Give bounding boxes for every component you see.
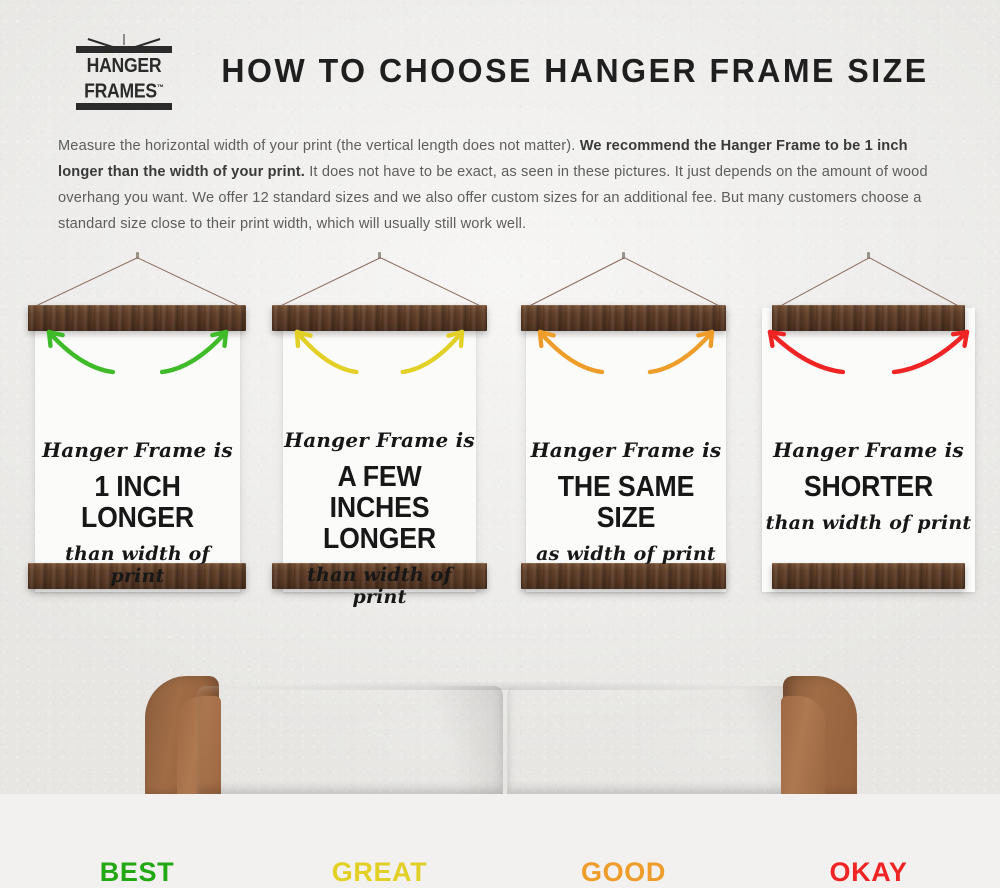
logo-wordmark: HANGER FRAMES™ — [78, 56, 170, 103]
logo-nail-icon — [124, 34, 125, 45]
page-title: HOW TO CHOOSE HANGER FRAME SIZE — [202, 52, 949, 90]
headline-line-2: LONGER — [291, 524, 469, 555]
intro-part-1: Measure the horizontal width of your pri… — [58, 138, 580, 154]
poster-okay-script-top: Hanger Frame is — [762, 438, 975, 462]
cord-left — [780, 257, 869, 306]
logo-line-1: HANGER — [78, 56, 170, 77]
poster-comparison-row: Hanger Frame is1 INCH LONGERthan width o… — [0, 252, 1000, 652]
poster-best-text: Hanger Frame is1 INCH LONGERthan width o… — [35, 438, 240, 587]
poster-okay-text: Hanger Frame isSHORTERthan width of prin… — [762, 438, 975, 534]
poster-great-script-bottom: than width of print — [283, 564, 476, 608]
poster-best-script-top: Hanger Frame is — [35, 438, 240, 462]
poster-okay-wood-bar-bottom — [772, 563, 965, 589]
nail-icon — [867, 252, 870, 259]
logo-top-bar-icon — [76, 46, 172, 53]
rating-label-good: GOOD — [521, 857, 726, 888]
logo-trademark: ™ — [157, 83, 164, 92]
poster-best-script-bottom: than width of print — [35, 543, 240, 587]
poster-best-headline: 1 INCH LONGER — [43, 472, 232, 534]
hanger-frames-logo: HANGER FRAMES™ — [72, 34, 176, 110]
sofa-cushion-right — [507, 686, 811, 794]
poster-okay-wood-bar-top — [772, 305, 965, 331]
poster-good-wood-bar-top — [521, 305, 726, 331]
poster-great-headline: A FEW INCHESLONGER — [291, 462, 469, 555]
cord-right — [868, 257, 957, 306]
poster-good-text: Hanger Frame isTHE SAME SIZEas width of … — [526, 438, 726, 565]
sofa-arm-right-inner — [781, 696, 825, 794]
poster-okay-script-bottom: than width of print — [762, 512, 975, 534]
rating-label-great: GREAT — [272, 857, 487, 888]
logo-line-2: FRAMES — [84, 81, 157, 103]
poster-great-wood-bar-top — [272, 305, 487, 331]
poster-best-wood-bar-top — [28, 305, 246, 331]
poster-great-text: Hanger Frame isA FEW INCHESLONGERthan wi… — [283, 428, 476, 608]
sofa-cushion-left — [197, 686, 503, 794]
poster-good-script-bottom: as width of print — [526, 543, 726, 565]
poster-good-headline: THE SAME SIZE — [534, 472, 718, 534]
headline-line-1: A FEW INCHES — [291, 462, 469, 524]
poster-good-script-top: Hanger Frame is — [526, 438, 726, 462]
leather-sofa — [145, 676, 857, 794]
infographic-page: HANGER FRAMES™ HOW TO CHOOSE HANGER FRAM… — [0, 0, 1000, 794]
rating-label-okay: OKAY — [772, 857, 965, 888]
sofa-arm-right — [783, 676, 857, 794]
poster-good-wood-bar-bottom — [521, 563, 726, 589]
header: HANGER FRAMES™ HOW TO CHOOSE HANGER FRAM… — [0, 28, 1000, 114]
rating-label-best: BEST — [28, 857, 246, 888]
poster-great-script-top: Hanger Frame is — [283, 428, 476, 452]
poster-okay-headline: SHORTER — [771, 472, 967, 503]
intro-paragraph: Measure the horizontal width of your pri… — [58, 133, 944, 237]
logo-line-2-wrap: FRAMES™ — [78, 77, 170, 103]
logo-bottom-bar-icon — [76, 103, 172, 110]
